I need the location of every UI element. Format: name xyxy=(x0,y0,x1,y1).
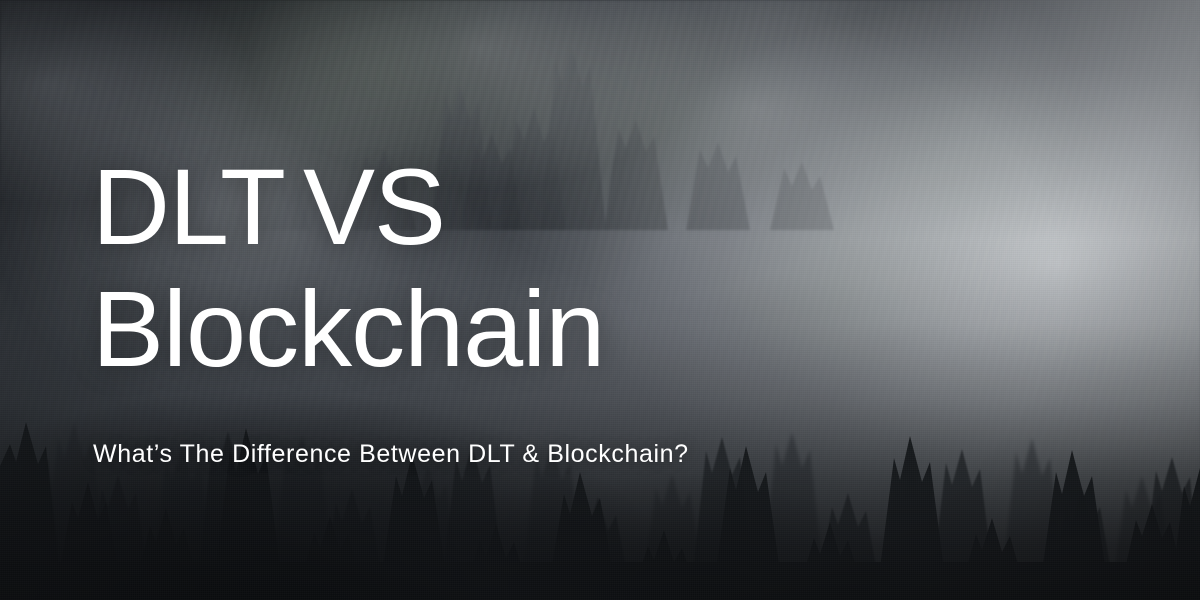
headline: DLTVS Blockchain xyxy=(92,146,604,390)
headline-dlt: DLT xyxy=(92,146,285,267)
headline-vs: VS xyxy=(303,146,445,267)
headline-blockchain: Blockchain xyxy=(92,268,604,390)
banner-image: DLTVS Blockchain What’s The Difference B… xyxy=(0,0,1200,600)
headline-line-1: DLTVS xyxy=(92,146,604,268)
text-overlay: DLTVS Blockchain What’s The Difference B… xyxy=(0,0,1200,600)
subtitle: What’s The Difference Between DLT & Bloc… xyxy=(93,440,689,469)
